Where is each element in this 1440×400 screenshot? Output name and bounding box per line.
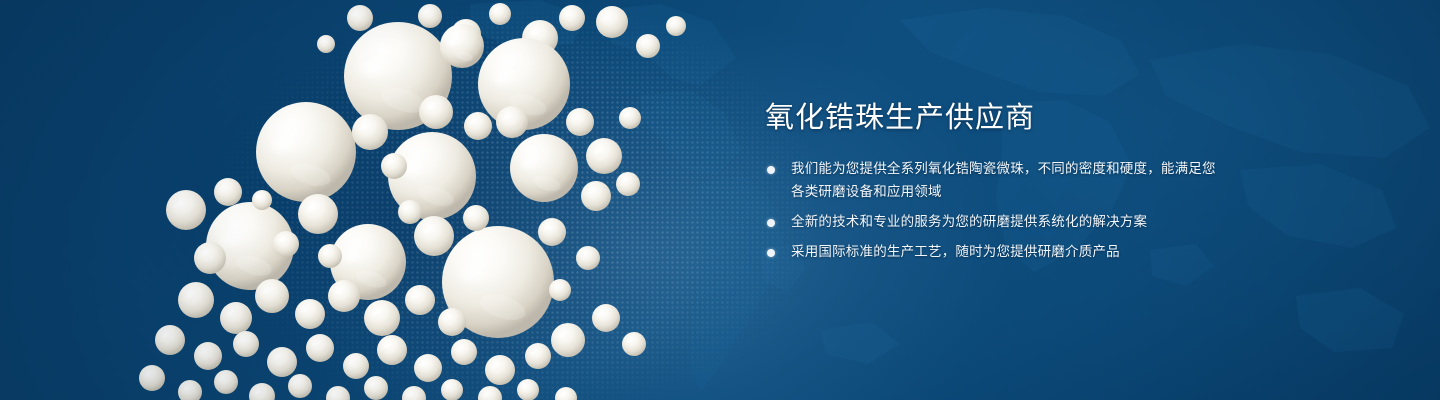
banner-content: 氧化锆珠生产供应商 我们能为您提供全系列氧化锆陶瓷微珠，不同的密度和硬度，能满足… xyxy=(765,100,1225,264)
list-item-label: 采用国际标准的生产工艺，随时为您提供研磨介质产品 xyxy=(791,244,1120,260)
list-item: 我们能为您提供全系列氧化锆陶瓷微珠，不同的密度和硬度，能满足您各类研磨设备和应用… xyxy=(765,158,1225,204)
list-item: 采用国际标准的生产工艺，随时为您提供研磨介质产品 xyxy=(765,241,1225,264)
list-item-label: 我们能为您提供全系列氧化锆陶瓷微珠，不同的密度和硬度，能满足您各类研磨设备和应用… xyxy=(791,161,1216,200)
bullet-dot-icon xyxy=(767,249,775,257)
list-item-label: 全新的技术和专业的服务为您的研磨提供系统化的解决方案 xyxy=(791,214,1147,230)
bullet-dot-icon xyxy=(767,219,775,227)
list-item: 全新的技术和专业的服务为您的研磨提供系统化的解决方案 xyxy=(765,211,1225,234)
feature-list: 我们能为您提供全系列氧化锆陶瓷微珠，不同的密度和硬度，能满足您各类研磨设备和应用… xyxy=(765,158,1225,264)
page-title: 氧化锆珠生产供应商 xyxy=(765,100,1225,134)
zirconia-beads-image xyxy=(0,0,780,400)
hero-banner: 氧化锆珠生产供应商 我们能为您提供全系列氧化锆陶瓷微珠，不同的密度和硬度，能满足… xyxy=(0,0,1440,400)
bullet-dot-icon xyxy=(767,166,775,174)
